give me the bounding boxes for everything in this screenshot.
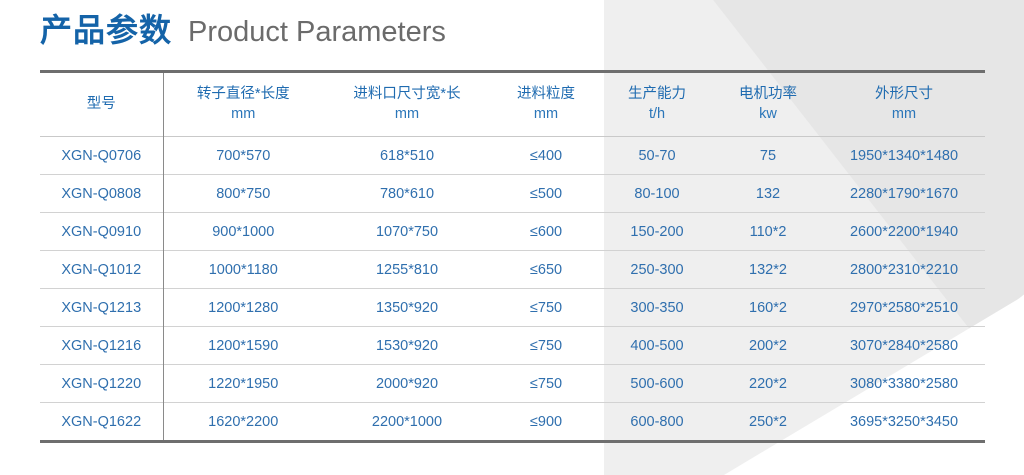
cell-value: ≤600 (491, 213, 601, 251)
table-bottom-rule (40, 440, 985, 443)
cell-value: 80-100 (601, 175, 713, 213)
cell-model: XGN-Q1220 (40, 365, 163, 403)
column-header-unit: mm (166, 104, 322, 124)
cell-value: 2970*2580*2510 (823, 289, 985, 327)
table-row: XGN-Q0808800*750780*610≤50080-1001322280… (40, 175, 985, 213)
cell-value: 1000*1180 (163, 251, 323, 289)
column-header-unit: mm (825, 104, 983, 124)
column-header-4: 生产能力t/h (601, 72, 713, 137)
column-header-2: 进料口尺寸宽*长mm (323, 72, 491, 137)
cell-value: ≤650 (491, 251, 601, 289)
cell-model: XGN-Q0808 (40, 175, 163, 213)
cell-value: 2280*1790*1670 (823, 175, 985, 213)
cell-value: 250*2 (713, 403, 823, 441)
cell-value: ≤400 (491, 137, 601, 175)
column-header-label: 型号 (87, 96, 116, 112)
page-title-cn: 产品参数 (40, 14, 172, 46)
column-header-label: 进料口尺寸宽*长 (353, 86, 460, 102)
cell-value: 2200*1000 (323, 403, 491, 441)
cell-value: 600-800 (601, 403, 713, 441)
cell-value: 1950*1340*1480 (823, 137, 985, 175)
spec-table-body: XGN-Q0706700*570618*510≤40050-70751950*1… (40, 137, 985, 441)
cell-value: ≤750 (491, 327, 601, 365)
cell-value: 1620*2200 (163, 403, 323, 441)
cell-value: 250-300 (601, 251, 713, 289)
table-row: XGN-Q12161200*15901530*920≤750400-500200… (40, 327, 985, 365)
column-header-label: 电机功率 (739, 86, 797, 102)
cell-value: 1530*920 (323, 327, 491, 365)
cell-value: 1220*1950 (163, 365, 323, 403)
cell-value: 2000*920 (323, 365, 491, 403)
cell-value: 1070*750 (323, 213, 491, 251)
table-row: XGN-Q12201220*19502000*920≤750500-600220… (40, 365, 985, 403)
column-header-label: 进料粒度 (517, 86, 575, 102)
cell-model: XGN-Q1216 (40, 327, 163, 365)
page-title: 产品参数 Product Parameters (40, 14, 446, 47)
cell-value: 3695*3250*3450 (823, 403, 985, 441)
column-header-0: 型号 (40, 72, 163, 137)
cell-value: 800*750 (163, 175, 323, 213)
cell-model: XGN-Q0706 (40, 137, 163, 175)
cell-model: XGN-Q0910 (40, 213, 163, 251)
spec-table-header-row: 型号转子直径*长度mm进料口尺寸宽*长mm进料粒度mm生产能力t/h电机功率kw… (40, 72, 985, 137)
cell-value: 900*1000 (163, 213, 323, 251)
table-row: XGN-Q0706700*570618*510≤40050-70751950*1… (40, 137, 985, 175)
table-row: XGN-Q10121000*11801255*810≤650250-300132… (40, 251, 985, 289)
column-header-unit: mm (325, 104, 489, 124)
cell-value: 200*2 (713, 327, 823, 365)
cell-value: 300-350 (601, 289, 713, 327)
column-header-label: 转子直径*长度 (197, 86, 290, 102)
cell-value: 50-70 (601, 137, 713, 175)
column-header-unit: t/h (603, 104, 711, 124)
table-row: XGN-Q16221620*22002200*1000≤900600-80025… (40, 403, 985, 441)
cell-value: 1200*1590 (163, 327, 323, 365)
column-header-label: 外形尺寸 (875, 86, 933, 102)
cell-value: 150-200 (601, 213, 713, 251)
column-header-label: 生产能力 (628, 86, 686, 102)
table-row: XGN-Q12131200*12801350*920≤750300-350160… (40, 289, 985, 327)
cell-value: 132*2 (713, 251, 823, 289)
cell-value: 2800*2310*2210 (823, 251, 985, 289)
cell-value: ≤500 (491, 175, 601, 213)
cell-value: ≤750 (491, 289, 601, 327)
cell-value: 1255*810 (323, 251, 491, 289)
cell-value: 700*570 (163, 137, 323, 175)
cell-model: XGN-Q1012 (40, 251, 163, 289)
table-row: XGN-Q0910900*10001070*750≤600150-200110*… (40, 213, 985, 251)
cell-value: 132 (713, 175, 823, 213)
cell-value: 500-600 (601, 365, 713, 403)
column-header-5: 电机功率kw (713, 72, 823, 137)
cell-value: ≤750 (491, 365, 601, 403)
product-parameters-page: 产品参数 Product Parameters 型号转子直径*长度mm进料口尺寸… (0, 0, 1024, 475)
column-header-unit: mm (493, 104, 599, 124)
spec-table: 型号转子直径*长度mm进料口尺寸宽*长mm进料粒度mm生产能力t/h电机功率kw… (40, 70, 985, 440)
cell-value: 220*2 (713, 365, 823, 403)
cell-value: 2600*2200*1940 (823, 213, 985, 251)
column-header-1: 转子直径*长度mm (163, 72, 323, 137)
column-header-3: 进料粒度mm (491, 72, 601, 137)
cell-model: XGN-Q1622 (40, 403, 163, 441)
cell-value: 110*2 (713, 213, 823, 251)
spec-table-wrapper: 型号转子直径*长度mm进料口尺寸宽*长mm进料粒度mm生产能力t/h电机功率kw… (40, 70, 985, 443)
page-title-en: Product Parameters (188, 18, 446, 47)
column-header-unit: kw (715, 104, 821, 124)
cell-value: 75 (713, 137, 823, 175)
spec-table-head: 型号转子直径*长度mm进料口尺寸宽*长mm进料粒度mm生产能力t/h电机功率kw… (40, 72, 985, 137)
cell-value: 400-500 (601, 327, 713, 365)
cell-value: 780*610 (323, 175, 491, 213)
cell-model: XGN-Q1213 (40, 289, 163, 327)
cell-value: 618*510 (323, 137, 491, 175)
cell-value: 3080*3380*2580 (823, 365, 985, 403)
cell-value: ≤900 (491, 403, 601, 441)
cell-value: 3070*2840*2580 (823, 327, 985, 365)
cell-value: 1350*920 (323, 289, 491, 327)
cell-value: 160*2 (713, 289, 823, 327)
column-header-6: 外形尺寸mm (823, 72, 985, 137)
cell-value: 1200*1280 (163, 289, 323, 327)
